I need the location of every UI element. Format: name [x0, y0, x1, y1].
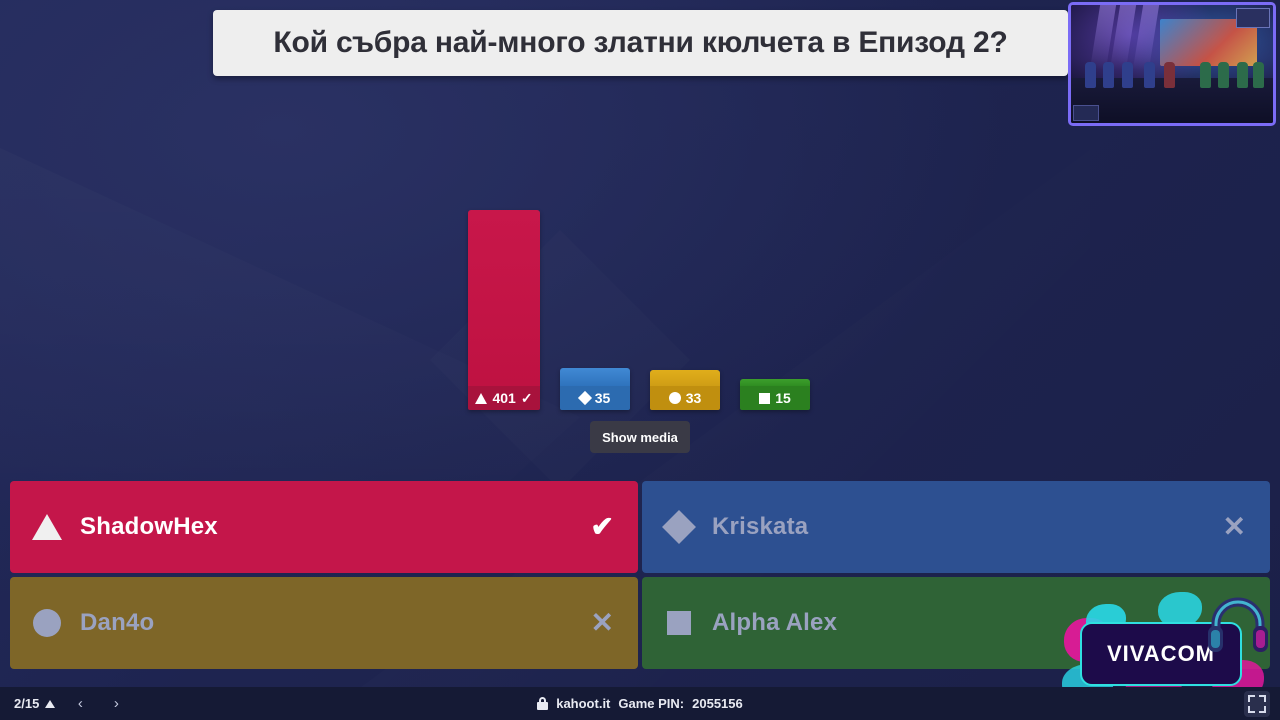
site-url: kahoot.it — [556, 696, 610, 711]
bar-label: 401 ✓ — [468, 386, 540, 410]
webcam-scene — [1071, 5, 1273, 123]
bar-fill — [740, 379, 810, 386]
answer-card-kriskata[interactable]: Kriskata ✕ — [642, 481, 1270, 573]
kahoot-results-screen: Кой събра най-много златни кюлчета в Епи… — [0, 0, 1280, 720]
answer-label: Alpha Alex — [712, 609, 837, 637]
bar-value: 35 — [595, 390, 611, 406]
game-pin-value: 2055156 — [692, 696, 743, 711]
answer-label: Kriskata — [712, 513, 808, 541]
headphones-icon — [1206, 594, 1270, 656]
bar-label: 35 — [560, 386, 630, 410]
circle-icon — [32, 608, 62, 638]
status-bar-right — [1244, 691, 1270, 717]
triangle-icon — [32, 512, 62, 542]
bar-label: 33 — [650, 386, 720, 410]
square-icon — [664, 608, 694, 638]
bar-fill — [468, 210, 540, 386]
bar-fill — [560, 368, 630, 386]
bar-group: 401 ✓ 35 33 — [468, 110, 810, 410]
incorrect-cross-icon: ✕ — [591, 609, 614, 637]
bar-fill — [650, 370, 720, 386]
sponsor-overlay: VIVACOM — [1062, 590, 1276, 702]
webcam-feed[interactable] — [1068, 2, 1276, 126]
square-icon — [759, 393, 770, 404]
sponsor-name: VIVACOM — [1107, 641, 1215, 667]
bar-diamond: 35 — [560, 368, 630, 410]
answer-card-shadowhex[interactable]: ShadowHex ✔ — [10, 481, 638, 573]
triangle-icon — [475, 393, 487, 404]
bar-value: 33 — [686, 390, 702, 406]
status-bar-center: kahoot.it Game PIN: 2055156 — [0, 696, 1280, 711]
bar-circle: 33 — [650, 370, 720, 410]
results-bar-chart: 401 ✓ 35 33 — [0, 110, 1280, 410]
status-bar: 2/15 ‹ › kahoot.it Game PIN: 2055156 — [0, 687, 1280, 720]
circle-icon — [669, 392, 681, 404]
answer-label: Dan4o — [80, 609, 154, 637]
answer-card-dan4o[interactable]: Dan4o ✕ — [10, 577, 638, 669]
bar-label: 15 — [740, 386, 810, 410]
bar-value: 15 — [775, 390, 791, 406]
show-media-button[interactable]: Show media — [590, 421, 690, 453]
bar-triangle: 401 ✓ — [468, 210, 540, 410]
correct-check-icon: ✔ — [591, 513, 614, 541]
exit-fullscreen-icon[interactable] — [1244, 691, 1270, 717]
game-pin-label: Game PIN: — [618, 696, 684, 711]
check-icon: ✓ — [521, 390, 533, 407]
lock-icon — [537, 697, 548, 710]
diamond-icon — [578, 391, 592, 405]
question-text: Кой събра най-много златни кюлчета в Епи… — [273, 26, 1007, 60]
webcam-pip — [1236, 8, 1270, 28]
answer-label: ShadowHex — [80, 513, 218, 541]
diamond-icon — [664, 512, 694, 542]
question-bar: Кой събра най-много златни кюлчета в Епи… — [213, 10, 1068, 76]
bar-square: 15 — [740, 379, 810, 410]
incorrect-cross-icon: ✕ — [1223, 513, 1246, 541]
bar-value: 401 — [492, 390, 515, 406]
